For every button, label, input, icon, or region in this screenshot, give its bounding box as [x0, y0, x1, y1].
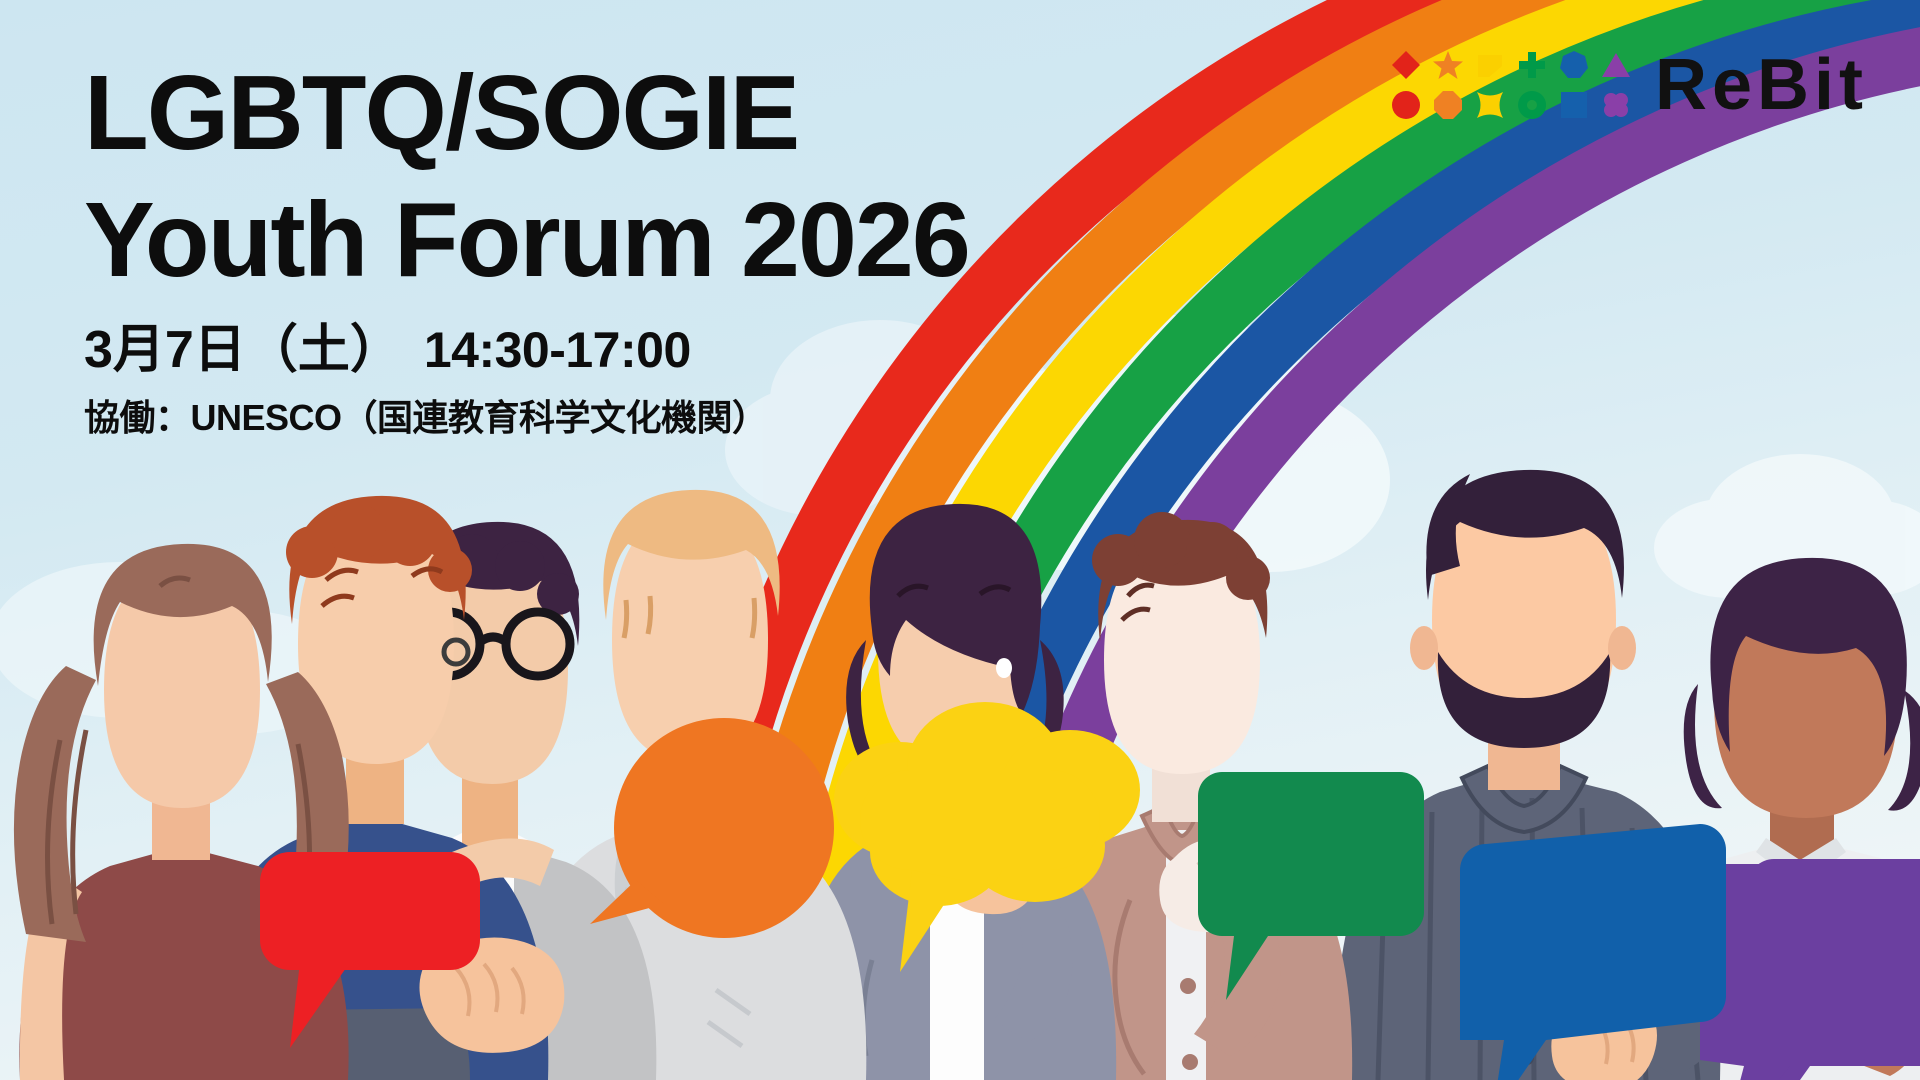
orange-octagon-mark — [1433, 90, 1463, 120]
green-cross-mark — [1517, 50, 1547, 80]
headline-block: LGBTQ/SOGIE Youth Forum 2026 3月7日（土）14:3… — [84, 52, 969, 436]
event-date-time: 3月7日（土）14:30-17:00 — [84, 324, 969, 376]
blue-heptagon-mark — [1559, 50, 1589, 80]
yellow-star4-mark — [1475, 90, 1505, 120]
purple-triangle-mark — [1601, 50, 1631, 80]
red-diamond-mark — [1391, 50, 1421, 80]
title-line-1: LGBTQ/SOGIE — [84, 52, 969, 175]
blue-square-mark — [1559, 90, 1589, 120]
green-donut-mark — [1517, 90, 1547, 120]
partner-line: 協働：UNESCO（国連教育科学文化機関） — [84, 400, 969, 436]
event-time: 14:30-17:00 — [424, 322, 691, 378]
yellow-flag-mark — [1475, 50, 1505, 80]
purple-speech-bubble-visible — [1700, 864, 1920, 1080]
poster-canvas: LGBTQ/SOGIE Youth Forum 2026 3月7日（土）14:3… — [0, 0, 1920, 1080]
red-circle-mark — [1391, 90, 1421, 120]
event-date: 3月7日（土） — [84, 321, 402, 379]
rebit-logo-marks — [1389, 48, 1633, 122]
orange-star-mark — [1433, 50, 1463, 80]
rebit-logo[interactable]: ReBit — [1389, 48, 1868, 122]
rebit-wordmark: ReBit — [1655, 49, 1868, 121]
orange-speech-bubble — [590, 718, 834, 938]
title-line-2: Youth Forum 2026 — [84, 179, 969, 302]
purple-flower-mark — [1601, 90, 1631, 120]
